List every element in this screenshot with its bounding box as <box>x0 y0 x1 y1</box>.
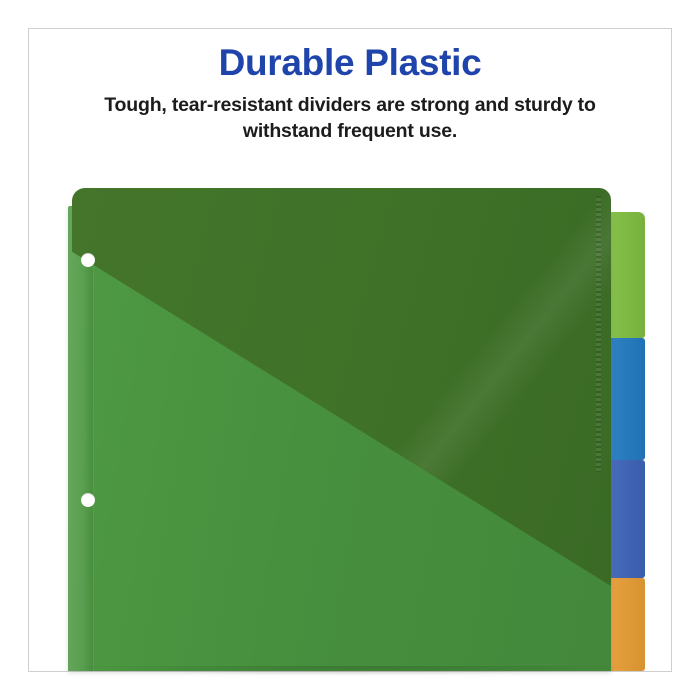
punch-hole-top <box>81 253 95 267</box>
pocket-seam-ribbing <box>596 196 601 472</box>
product-feature-card: Durable Plastic Tough, tear-resistant di… <box>0 0 700 700</box>
page-title: Durable Plastic <box>40 42 660 83</box>
binding-edge-strip <box>68 206 94 671</box>
marketing-text-block: Durable Plastic Tough, tear-resistant di… <box>40 42 660 145</box>
page-subtitle: Tough, tear-resistant dividers are stron… <box>70 93 630 145</box>
sheet-drop-shadow <box>72 666 632 675</box>
punch-hole-bottom <box>81 493 95 507</box>
